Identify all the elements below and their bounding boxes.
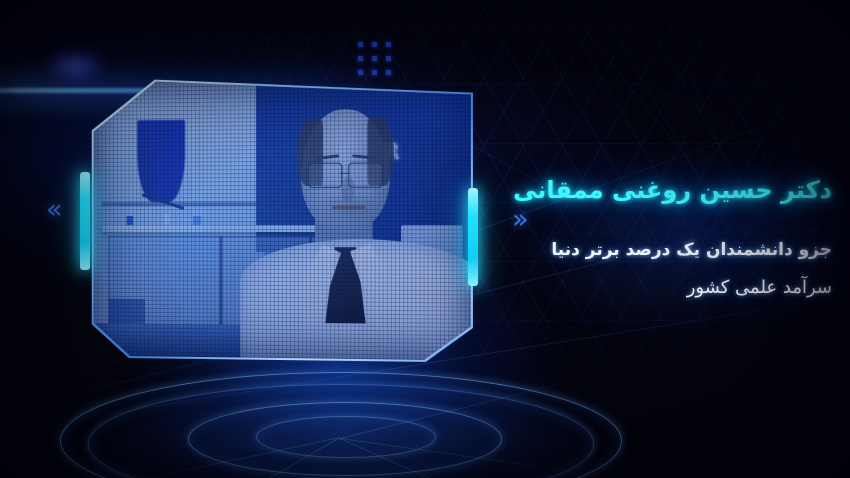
portrait-frame[interactable]: RGCSR [92,75,473,362]
subtitle-line-1: جزو دانشمندان یک درصد برتر دنیا [520,240,832,260]
grid-dot [372,56,377,61]
grid-dot [372,42,377,47]
grid-dot [386,42,391,47]
photo-vignette [94,78,471,361]
frame-inner: RGCSR [94,78,471,361]
accent-bar-left [80,172,90,270]
grid-dot [358,42,363,47]
chevron-right-icon: » [46,196,63,223]
scene-stage: RGCSR [0,0,850,478]
grid-dot [386,56,391,61]
portrait-photo: RGCSR [94,78,471,361]
caption-text-block: دکتر حسین روغنی ممقانی جزو دانشمندان یک … [520,176,832,298]
grid-dot [358,56,363,61]
subtitle-line-2: سرآمد علمی کشور [520,277,832,298]
radial-line [46,437,340,478]
person-name-title: دکتر حسین روغنی ممقانی [520,176,832,204]
accent-bar-right [468,188,478,286]
radial-line [80,437,340,478]
